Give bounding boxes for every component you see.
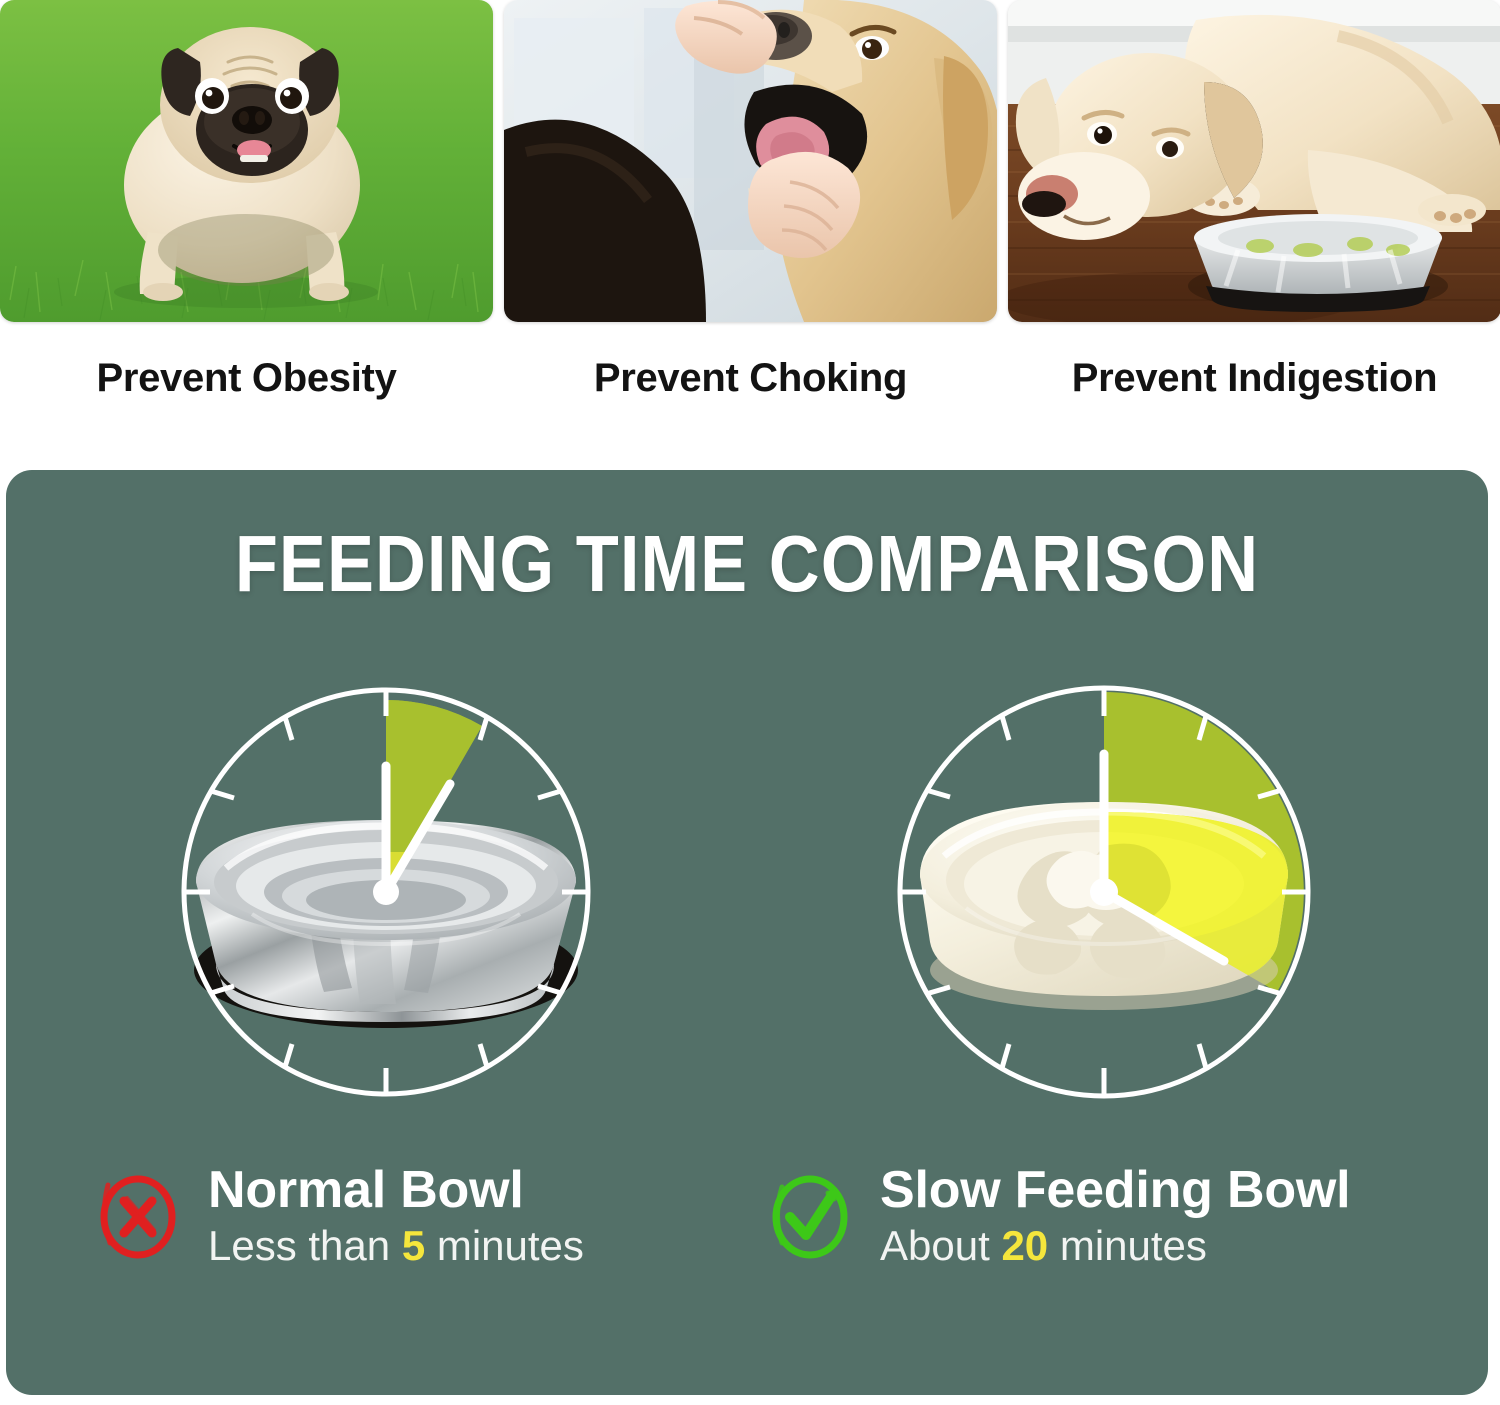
normal-bowl-text-group: Normal Bowl Less than 5 minutes [208, 1162, 584, 1272]
slow-feeding-bowl-text-group: Slow Feeding Bowl About 20 minutes [880, 1162, 1350, 1272]
normal-bowl-sub-prefix: Less than [208, 1222, 390, 1269]
person-checking-golden-retriever-mouth-photo [504, 0, 997, 322]
slow-bowl-sub-prefix: About [880, 1222, 990, 1269]
clock-comparison-group [6, 670, 1488, 1140]
cross-mark-icon [94, 1173, 182, 1261]
comparison-label-slow-feeding-bowl: Slow Feeding Bowl About 20 minutes [766, 1162, 1350, 1272]
slow-feeding-bowl-title: Slow Feeding Bowl [880, 1162, 1350, 1218]
benefit-caption-indigestion: Prevent Indigestion [1008, 356, 1500, 401]
normal-bowl-title: Normal Bowl [208, 1162, 584, 1218]
normal-bowl-subtitle: Less than 5 minutes [208, 1221, 584, 1271]
comparison-label-normal-bowl: Normal Bowl Less than 5 minutes [94, 1162, 584, 1272]
benefit-caption-obesity: Prevent Obesity [0, 356, 493, 401]
benefit-cell-indigestion: Prevent Indigestion [1008, 0, 1500, 440]
benefits-photo-row: Prevent Obesity [0, 0, 1500, 440]
comparison-label-row: Normal Bowl Less than 5 minutes Slow Fee… [6, 1162, 1488, 1302]
slow-feeding-bowl-subtitle: About 20 minutes [880, 1221, 1350, 1271]
clock-normal-bowl [156, 670, 616, 1130]
clock-slow-feeding-bowl [874, 670, 1334, 1130]
slow-bowl-sub-suffix: minutes [1060, 1222, 1207, 1269]
normal-bowl-minutes-value: 5 [402, 1222, 425, 1269]
slow-bowl-minutes-value: 20 [1001, 1222, 1048, 1269]
benefit-caption-choking: Prevent Choking [504, 356, 997, 401]
feeding-time-comparison-panel: FEEDING TIME COMPARISON [6, 470, 1488, 1395]
benefit-cell-choking: Prevent Choking [504, 0, 997, 440]
check-mark-icon [766, 1173, 854, 1261]
benefit-cell-obesity: Prevent Obesity [0, 0, 493, 440]
product-infographic: Prevent Obesity [0, 0, 1500, 1405]
normal-bowl-sub-suffix: minutes [437, 1222, 584, 1269]
overweight-pug-on-grass-photo [0, 0, 493, 322]
labrador-lying-beside-food-bowl-photo [1008, 0, 1500, 322]
panel-title: FEEDING TIME COMPARISON [95, 518, 1399, 610]
